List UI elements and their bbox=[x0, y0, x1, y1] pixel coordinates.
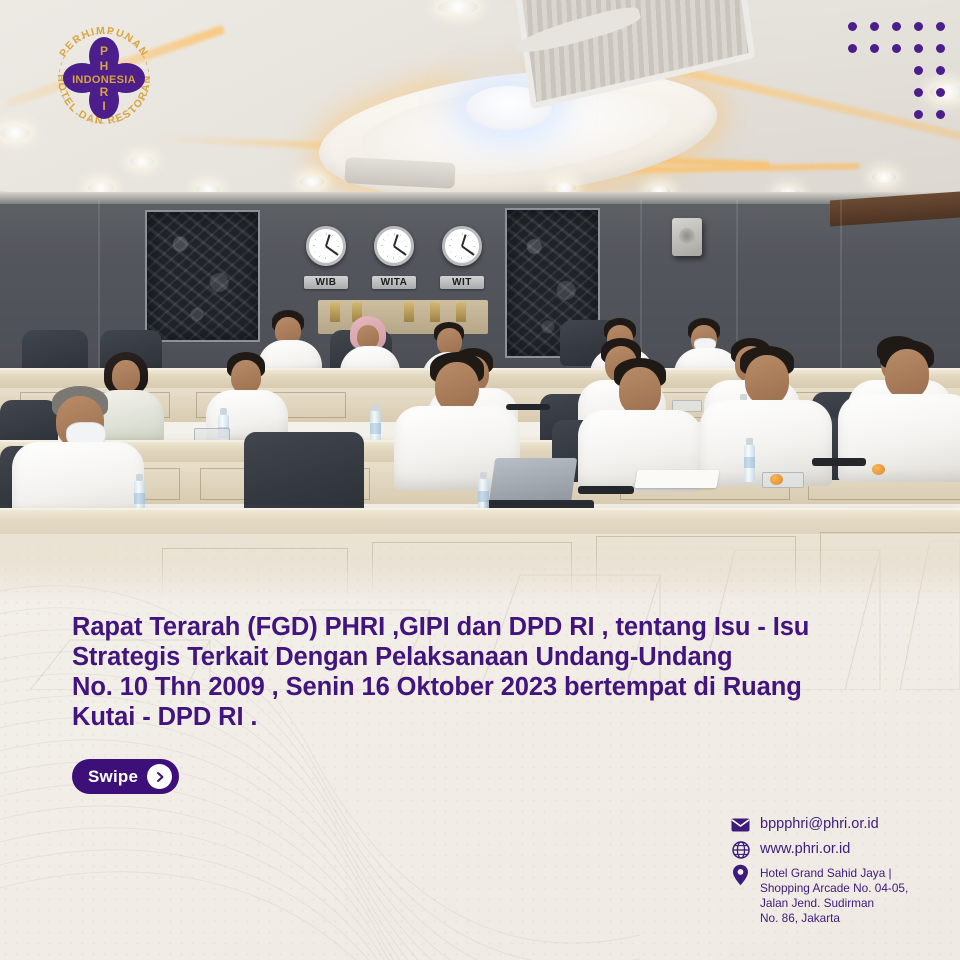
dot bbox=[848, 22, 857, 31]
downlight-icon bbox=[300, 176, 324, 187]
dot bbox=[936, 44, 945, 53]
document-papers bbox=[634, 470, 719, 488]
trophy bbox=[330, 302, 340, 322]
swipe-button[interactable]: Swipe bbox=[72, 759, 179, 794]
dot-empty bbox=[848, 88, 857, 97]
water-bottle bbox=[370, 410, 381, 444]
table-panel-outline bbox=[820, 532, 960, 598]
dot-empty bbox=[892, 66, 901, 75]
fruit bbox=[872, 464, 885, 475]
dot bbox=[914, 44, 923, 53]
trophy bbox=[456, 302, 466, 322]
dot bbox=[936, 110, 945, 119]
contact-row-email[interactable]: bppphri@phri.or.id bbox=[730, 814, 960, 835]
carved-wall-panel bbox=[145, 210, 260, 342]
timezone-label-wib: WIB bbox=[304, 276, 348, 289]
globe-icon bbox=[730, 839, 751, 860]
microphone bbox=[578, 486, 634, 494]
dot-empty bbox=[870, 66, 879, 75]
swipe-label: Swipe bbox=[88, 767, 138, 787]
email-text: bppphri@phri.or.id bbox=[760, 814, 879, 834]
dot bbox=[870, 44, 879, 53]
wall-clock bbox=[442, 226, 482, 266]
chevron-right-icon bbox=[147, 764, 172, 789]
dot bbox=[892, 44, 901, 53]
dot bbox=[870, 22, 879, 31]
dot-empty bbox=[848, 66, 857, 75]
dot bbox=[914, 110, 923, 119]
website-text: www.phri.or.id bbox=[760, 839, 850, 859]
snack-box bbox=[762, 472, 804, 488]
address-text: Hotel Grand Sahid Jaya | Shopping Arcade… bbox=[760, 864, 908, 926]
table-panel-outline bbox=[596, 536, 796, 598]
dot-empty bbox=[870, 88, 879, 97]
dot bbox=[848, 44, 857, 53]
wall-clock bbox=[374, 226, 414, 266]
svg-text:H: H bbox=[100, 59, 109, 73]
chair bbox=[244, 432, 364, 518]
table-panel-outline bbox=[372, 542, 572, 600]
envelope-icon bbox=[730, 814, 751, 835]
trophy bbox=[404, 302, 414, 322]
laptop bbox=[489, 458, 577, 504]
wall-speaker bbox=[672, 218, 702, 256]
phri-logo: PERHIMPUNAN HOTEL DAN RESTORAN P H R I I… bbox=[48, 22, 160, 134]
wall-clock bbox=[306, 226, 346, 266]
microphone bbox=[506, 404, 550, 410]
fruit bbox=[770, 474, 783, 485]
dot bbox=[936, 66, 945, 75]
dot bbox=[936, 22, 945, 31]
dot bbox=[936, 88, 945, 97]
table-panel-outline bbox=[162, 548, 348, 600]
timezone-label-wita: WITA bbox=[372, 276, 416, 289]
dot bbox=[892, 22, 901, 31]
page-title: Rapat Terarah (FGD) PHRI ,GIPI dan DPD R… bbox=[72, 612, 902, 732]
contact-block: bppphri@phri.or.id www.phri.or.id bbox=[730, 814, 960, 930]
dot-empty bbox=[848, 110, 857, 119]
microphone bbox=[812, 458, 866, 466]
dot-empty bbox=[870, 110, 879, 119]
map-pin-icon bbox=[730, 864, 751, 885]
dot bbox=[914, 88, 923, 97]
wall-seam bbox=[640, 200, 642, 370]
dot-empty bbox=[892, 110, 901, 119]
downlight-icon bbox=[438, 0, 478, 14]
wall-trim bbox=[0, 192, 960, 204]
water-bottle bbox=[744, 444, 755, 482]
timezone-label-wit: WIT bbox=[440, 276, 484, 289]
poster-canvas: WIB WITA WIT bbox=[0, 0, 960, 960]
dot-grid bbox=[848, 22, 958, 132]
downlight-icon bbox=[872, 172, 896, 183]
svg-text:P: P bbox=[100, 44, 108, 58]
svg-text:R: R bbox=[100, 85, 109, 99]
svg-text:I: I bbox=[102, 99, 105, 113]
contact-row-website[interactable]: www.phri.or.id bbox=[730, 839, 960, 860]
contact-row-address: Hotel Grand Sahid Jaya | Shopping Arcade… bbox=[730, 864, 960, 926]
trophy bbox=[430, 302, 440, 322]
wall-seam bbox=[840, 200, 842, 370]
svg-text:INDONESIA: INDONESIA bbox=[72, 74, 136, 86]
downlight-icon bbox=[0, 126, 30, 140]
dot-empty bbox=[892, 88, 901, 97]
dot bbox=[914, 66, 923, 75]
downlight-icon bbox=[130, 156, 154, 167]
dot bbox=[914, 22, 923, 31]
